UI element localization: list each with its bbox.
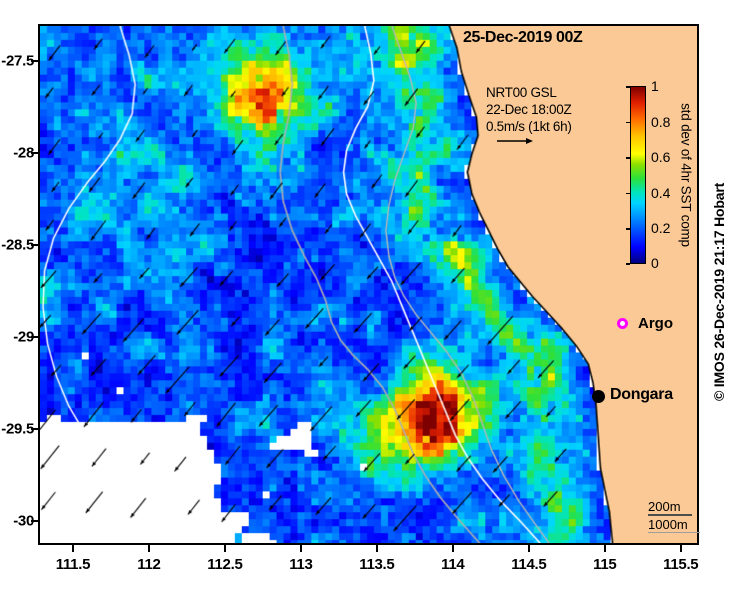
x-axis-tick: [148, 545, 150, 552]
y-axis-label: -30: [13, 513, 34, 530]
vector-key-line1: NRT00 GSL: [486, 84, 572, 101]
x-axis-label: 114.5: [511, 556, 546, 573]
x-axis-tick: [680, 545, 682, 552]
sst-variance-heatmap[interactable]: [40, 26, 697, 543]
x-axis-label: 113.5: [359, 556, 394, 573]
colorbar-label-04: 0.4: [651, 185, 670, 201]
y-axis-label: -29.5: [1, 421, 34, 438]
argo-legend-item: Argo: [617, 315, 673, 332]
argo-float-icon: [617, 318, 628, 329]
colorbar-tick: [626, 86, 630, 88]
bathymetry-200m-label: 200m: [648, 499, 681, 514]
colorbar-label-06: 0.6: [651, 149, 670, 165]
x-axis-label: 115.5: [663, 556, 698, 573]
colorbar-label-0: 0: [651, 255, 659, 271]
y-axis-label: -28: [13, 144, 34, 161]
colorbar-tick: [626, 193, 630, 195]
vector-key-line3: 0.5m/s (1kt 6h): [486, 118, 572, 135]
bathymetry-200m-item: 200m: [648, 498, 700, 516]
argo-legend-label: Argo: [638, 315, 673, 332]
colorbar-tick: [626, 228, 630, 230]
x-axis-tick: [300, 545, 302, 552]
x-axis-tick: [376, 545, 378, 552]
dongara-town-icon: [592, 390, 605, 403]
y-axis-label: -28.5: [1, 236, 34, 253]
dongara-town-label: Dongara: [610, 386, 673, 404]
x-axis-tick: [452, 545, 454, 552]
x-axis-tick: [528, 545, 530, 552]
colorbar-label-02: 0.2: [651, 220, 670, 236]
bathymetry-legend: 200m 1000m: [648, 498, 700, 533]
y-axis-label: -27.5: [1, 52, 34, 69]
map-plot-area[interactable]: [38, 24, 699, 545]
colorbar-label-1: 1: [651, 78, 659, 94]
vector-key-line2: 22-Dec 18:00Z: [486, 101, 572, 118]
bathymetry-1000m-item: 1000m: [648, 516, 700, 534]
colorbar-tick: [626, 157, 630, 159]
timestamp-title: 25-Dec-2019 00Z: [463, 29, 582, 47]
bathymetry-1000m-label: 1000m: [648, 517, 688, 532]
x-axis-tick: [224, 545, 226, 552]
colorbar-tick: [626, 263, 630, 265]
x-axis-label: 112.5: [207, 556, 242, 573]
right-arrow-icon: [497, 136, 533, 146]
x-axis-label: 114: [441, 556, 464, 573]
x-axis-tick: [72, 545, 74, 552]
colorbar-gradient[interactable]: [630, 86, 646, 264]
y-axis-label: -29: [13, 328, 34, 345]
colorbar-label-08: 0.8: [651, 114, 670, 130]
colorbar-tick: [626, 122, 630, 124]
colorbar-title: std dev of 4hr SST comp: [679, 103, 694, 247]
x-axis-label: 115: [593, 556, 616, 573]
copyright-text: © IMOS 26-Dec-2019 21:17 Hobart: [711, 183, 727, 401]
x-axis-tick: [604, 545, 606, 552]
x-axis-label: 112: [137, 556, 160, 573]
x-axis-label: 113: [289, 556, 312, 573]
figure-root: 25-Dec-2019 00Z NRT00 GSL 22-Dec 18:00Z …: [0, 0, 739, 592]
current-vector-key: NRT00 GSL 22-Dec 18:00Z 0.5m/s (1kt 6h): [486, 84, 572, 135]
x-axis-label: 111.5: [56, 556, 90, 573]
